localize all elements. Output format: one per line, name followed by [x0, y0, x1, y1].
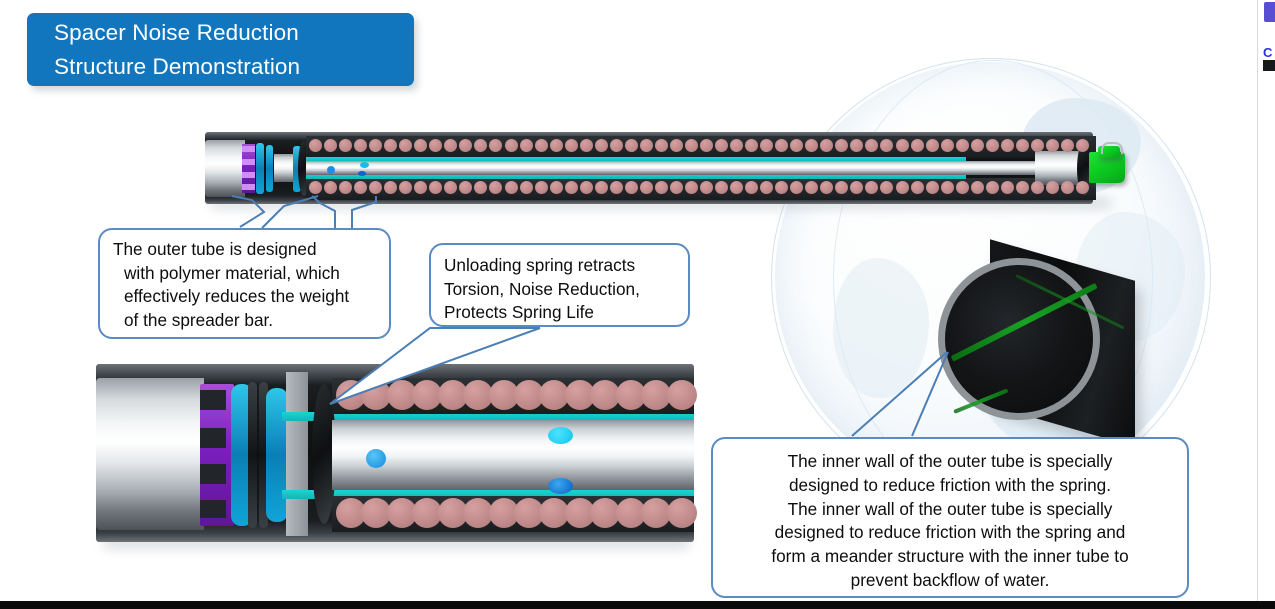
- callout-inner-wall-line-5: form a meander structure with the inner …: [723, 545, 1177, 569]
- spring-coil: [971, 181, 984, 194]
- spring-coil: [1061, 139, 1074, 152]
- callout-inner-wall-line-6: prevent backflow of water.: [723, 569, 1177, 593]
- purple-gear-tooth: [242, 159, 255, 165]
- purple-accent-bar: [1264, 2, 1275, 22]
- cyan-seal-ring: [266, 388, 288, 522]
- spring-coil: [670, 139, 683, 152]
- slide-title-plate: Spacer Noise Reduction Structure Demonst…: [27, 13, 414, 86]
- spring-coil: [986, 139, 999, 152]
- spring-coil: [1046, 181, 1059, 194]
- spring-coil: [309, 139, 322, 152]
- purple-gear-tooth: [242, 172, 255, 178]
- slide-canvas: Spacer Noise Reduction Structure Demonst…: [0, 0, 1275, 609]
- left-chrome-plug: [205, 140, 245, 197]
- figure-outer-tube-cross-section: [930, 252, 1140, 444]
- spring-coil: [941, 181, 954, 194]
- callout-outer-tube-line-4: of the spreader bar.: [113, 309, 389, 333]
- spring-coil: [595, 139, 608, 152]
- spring-coil: [667, 498, 697, 528]
- wire-clip: [1101, 142, 1123, 154]
- inner-tube: [332, 420, 694, 490]
- vent-hole: [548, 478, 573, 494]
- spring-coil: [941, 139, 954, 152]
- spring-coil: [640, 139, 653, 152]
- figure-spreader-bar-cutaway-detail: [96, 364, 694, 545]
- spring-coil: [324, 181, 337, 194]
- spring-coil: [550, 181, 563, 194]
- spring-coil: [1046, 139, 1059, 152]
- vent-hole: [358, 171, 366, 176]
- spring-coil: [625, 181, 638, 194]
- spring-coil: [324, 139, 337, 152]
- spring-coil: [580, 139, 593, 152]
- purple-gear-tooth: [242, 146, 255, 152]
- slide-title-line-1: Spacer Noise Reduction: [54, 16, 414, 50]
- spring-coil: [610, 181, 623, 194]
- truncated-link[interactable]: C: [1263, 46, 1272, 59]
- spring-coil: [667, 380, 697, 410]
- spring-coil: [1001, 139, 1014, 152]
- spring-coil: [956, 139, 969, 152]
- spring-coil: [670, 181, 683, 194]
- spring-coil: [535, 181, 548, 194]
- spring-coil: [956, 181, 969, 194]
- spring-coil: [520, 139, 533, 152]
- left-chrome-barrel: [96, 378, 204, 530]
- cyan-seal-ring: [256, 143, 264, 194]
- spring-coil: [730, 139, 743, 152]
- spring-coil: [1001, 181, 1014, 194]
- vent-hole: [360, 162, 369, 168]
- callout-inner-wall: The inner wall of the outer tube is spec…: [711, 437, 1189, 598]
- pipe-mouth: [938, 258, 1100, 420]
- seal-groove: [248, 382, 257, 528]
- spring-coil: [520, 181, 533, 194]
- cyan-seal-ring: [266, 145, 273, 192]
- spring-coil: [926, 139, 939, 152]
- spring-coil: [655, 181, 668, 194]
- spring-coil: [655, 139, 668, 152]
- callout-spring-line-1: Unloading spring retracts: [444, 254, 688, 278]
- spring-coil: [700, 139, 713, 152]
- gear-notch: [200, 390, 226, 410]
- spring-coil: [1061, 181, 1074, 194]
- callout-outer-tube-line-3: effectively reduces the weight: [113, 285, 389, 309]
- callout-inner-wall-line-2: designed to reduce friction with the spr…: [723, 474, 1177, 498]
- spring-coil: [685, 181, 698, 194]
- purple-gear-tooth: [242, 184, 255, 190]
- spring-coil: [685, 139, 698, 152]
- spring-coil: [1076, 181, 1089, 194]
- spring-coil: [971, 139, 984, 152]
- spring-coil: [1076, 139, 1089, 152]
- vent-hole: [366, 449, 386, 468]
- vent-hole: [548, 427, 573, 444]
- spring-coil: [715, 139, 728, 152]
- gear-notch: [200, 428, 226, 448]
- figure-spreader-bar-cutaway-full: [205, 126, 1130, 210]
- spring-coil: [700, 181, 713, 194]
- callout-spring-line-3: Protects Spring Life: [444, 301, 688, 325]
- right-chrome-cap: [1035, 151, 1080, 185]
- spring-coil: [505, 139, 518, 152]
- spring-coil: [505, 181, 518, 194]
- slide-title-line-2: Structure Demonstration: [54, 50, 414, 84]
- vent-hole: [327, 166, 335, 174]
- spring-coil: [715, 181, 728, 194]
- spring-coil: [1016, 181, 1029, 194]
- spring-coil: [535, 139, 548, 152]
- right-edge-panel: C: [1257, 0, 1275, 609]
- dark-chip: [1263, 60, 1275, 71]
- gear-notch: [200, 500, 226, 518]
- spring-coil: [580, 181, 593, 194]
- spring-coil: [625, 139, 638, 152]
- callout-inner-wall-line-3: The inner wall of the outer tube is spec…: [723, 498, 1177, 522]
- spring-coil: [595, 181, 608, 194]
- spring-coil: [1016, 139, 1029, 152]
- spring-coil: [339, 181, 352, 194]
- bottom-black-bar: [0, 601, 1275, 609]
- spring-coil: [640, 181, 653, 194]
- callout-unloading-spring: Unloading spring retracts Torsion, Noise…: [429, 243, 690, 327]
- spring-coil: [926, 181, 939, 194]
- gear-notch: [200, 464, 226, 484]
- callout-outer-tube-line-2: with polymer material, which: [113, 262, 389, 286]
- callout-outer-tube-line-1: The outer tube is designed: [113, 238, 389, 262]
- spring-coil: [339, 139, 352, 152]
- spring-coil: [911, 139, 924, 152]
- spring-coil: [1031, 139, 1044, 152]
- spring-coil: [565, 139, 578, 152]
- callout-spring-line-2: Torsion, Noise Reduction,: [444, 278, 688, 302]
- inner-tube: [306, 161, 1106, 175]
- callout-outer-tube: The outer tube is designed with polymer …: [98, 228, 391, 339]
- housing-block: [286, 372, 308, 536]
- spring-coil: [896, 139, 909, 152]
- spring-coil: [911, 181, 924, 194]
- spring-coil: [1031, 181, 1044, 194]
- spring-coil: [730, 181, 743, 194]
- spring-coil: [610, 139, 623, 152]
- spring-coil: [986, 181, 999, 194]
- spring-coil: [565, 181, 578, 194]
- callout-inner-wall-line-1: The inner wall of the outer tube is spec…: [723, 450, 1177, 474]
- spring-coil: [309, 181, 322, 194]
- spring-coil: [550, 139, 563, 152]
- spring-coil: [896, 181, 909, 194]
- callout-inner-wall-line-4: designed to reduce friction with the spr…: [723, 521, 1177, 545]
